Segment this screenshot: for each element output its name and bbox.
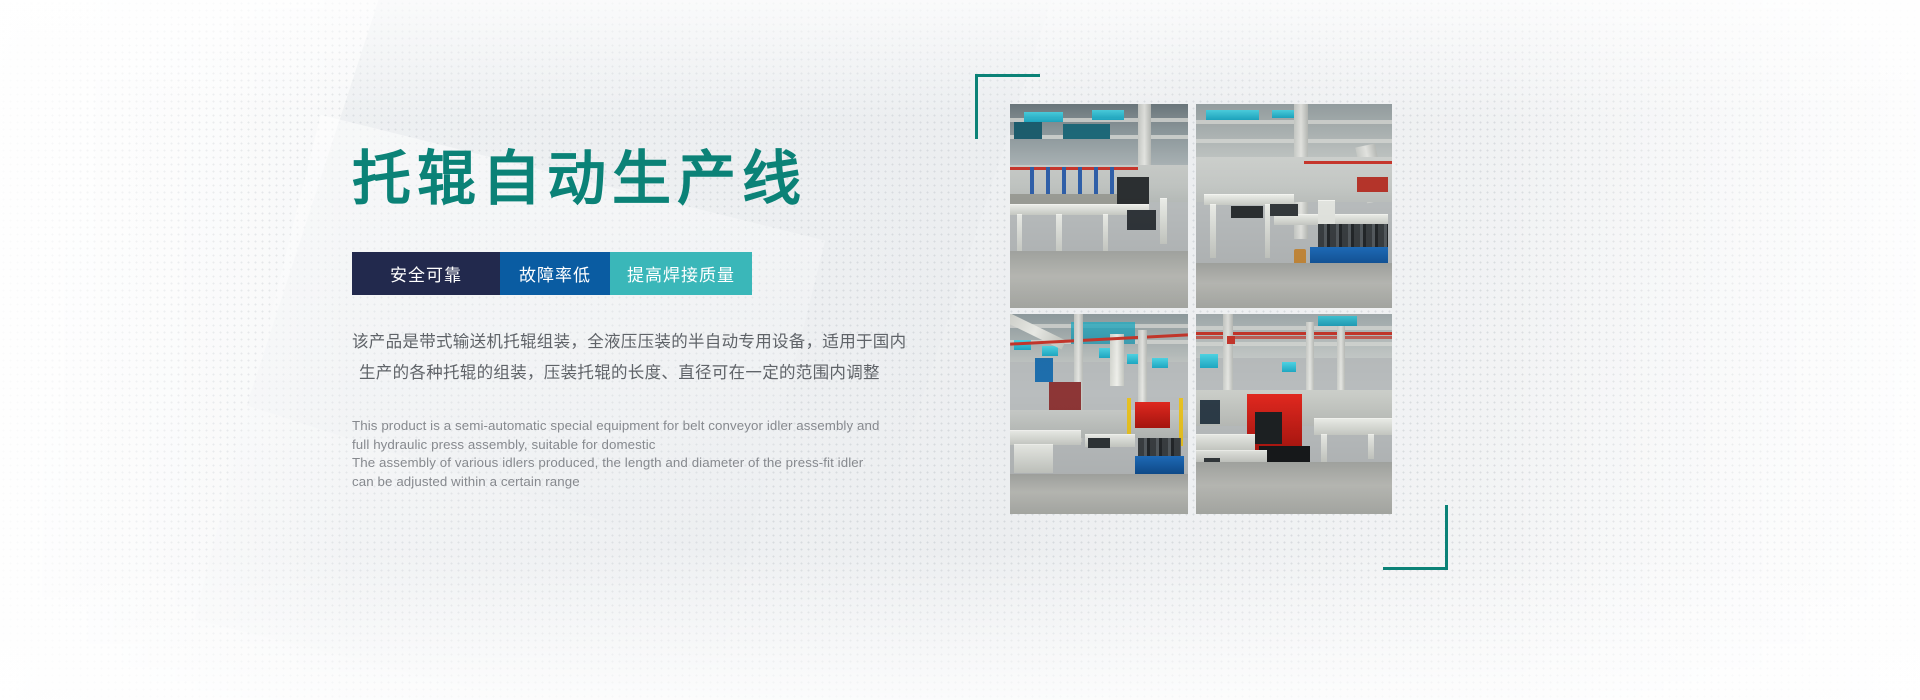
page-title: 托辊自动生产线 [352, 150, 912, 209]
description-english-line-1: This product is a semi-automatic special… [352, 417, 912, 436]
photo-conveyor-roller-line[interactable] [1010, 104, 1188, 308]
feature-tag-row: 安全可靠 故障率低 提高焊接质量 [352, 252, 912, 295]
description-english-line-2: full hydraulic press assembly, suitable … [352, 436, 912, 455]
description-chinese: 该产品是带式输送机托辊组装，全液压压装的半自动专用设备，适用于国内 生产的各种托… [352, 327, 912, 389]
photo-collage [1010, 104, 1410, 532]
photo-grid [1010, 104, 1410, 532]
banner-text-column: 托辊自动生产线 安全可靠 故障率低 提高焊接质量 该产品是带式输送机托辊组装，全… [352, 150, 912, 491]
photo-workshop-idler-crate[interactable] [1196, 104, 1392, 308]
description-chinese-line-2: 生产的各种托辊的组装，压装托辊的长度、直径可在一定的范围内调整 [352, 358, 912, 389]
feature-tag-low-failure[interactable]: 故障率低 [500, 252, 610, 295]
bottom-sheen-overlay [0, 550, 1920, 700]
description-english-line-4: can be adjusted within a certain range [352, 473, 912, 492]
photo-assembly-line-overview[interactable] [1010, 314, 1188, 514]
product-banner: 托辊自动生产线 安全可靠 故障率低 提高焊接质量 该产品是带式输送机托辊组装，全… [0, 0, 1920, 700]
top-sheen-overlay [0, 0, 1920, 120]
feature-tag-weld-quality[interactable]: 提高焊接质量 [610, 252, 752, 295]
description-english-line-3: The assembly of various idlers produced,… [352, 454, 912, 473]
photo-red-press-machine[interactable] [1196, 314, 1392, 514]
description-english: This product is a semi-automatic special… [352, 417, 912, 491]
feature-tag-safety[interactable]: 安全可靠 [352, 252, 500, 295]
description-chinese-line-1: 该产品是带式输送机托辊组装，全液压压装的半自动专用设备，适用于国内 [352, 333, 906, 351]
